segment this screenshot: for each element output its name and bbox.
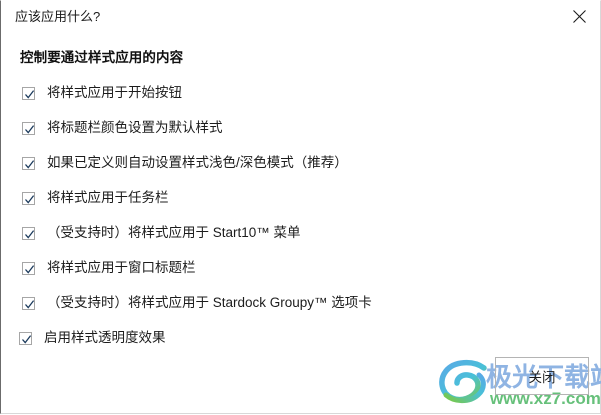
checkbox-icon[interactable] <box>19 332 32 345</box>
dialog-title: 应该应用什么? <box>15 8 100 25</box>
checkbox-icon[interactable] <box>22 227 35 240</box>
close-button[interactable]: 关闭 <box>495 357 589 395</box>
close-x-icon[interactable] <box>563 2 595 30</box>
option-row-transparency[interactable]: 启用样式透明度效果 <box>19 328 166 348</box>
option-label: （受支持时）将样式应用于 Start10™ 菜单 <box>47 224 301 242</box>
option-label: 启用样式透明度效果 <box>44 329 166 347</box>
option-label: 将标题栏颜色设置为默认样式 <box>47 119 223 137</box>
option-row-groupy-tabs[interactable]: （受支持时）将样式应用于 Stardock Groupy™ 选项卡 <box>22 293 372 313</box>
section-heading: 控制要通过样式应用的内容 <box>20 46 183 66</box>
checkbox-icon[interactable] <box>22 297 35 310</box>
option-label: 将样式应用于窗口标题栏 <box>47 259 196 277</box>
option-row-start-button[interactable]: 将样式应用于开始按钮 <box>22 83 182 103</box>
aurora-swirl-logo-icon <box>438 359 492 405</box>
checkbox-icon[interactable] <box>22 157 35 170</box>
option-row-auto-light-dark[interactable]: 如果已定义则自动设置样式浅色/深色模式（推荐） <box>22 153 348 173</box>
checkbox-icon[interactable] <box>22 122 35 135</box>
option-label: 将样式应用于任务栏 <box>47 189 169 207</box>
dialog-window: 应该应用什么? 控制要通过样式应用的内容 将样式应用于开始按钮 <box>0 0 601 414</box>
option-label: （受支持时）将样式应用于 Stardock Groupy™ 选项卡 <box>47 294 372 312</box>
option-row-start10-menu[interactable]: （受支持时）将样式应用于 Start10™ 菜单 <box>22 223 301 243</box>
checkbox-icon[interactable] <box>22 87 35 100</box>
option-label: 如果已定义则自动设置样式浅色/深色模式（推荐） <box>47 154 348 172</box>
option-row-taskbar[interactable]: 将样式应用于任务栏 <box>22 188 169 208</box>
option-row-window-titlebar[interactable]: 将样式应用于窗口标题栏 <box>22 258 196 278</box>
option-row-titlebar-color[interactable]: 将标题栏颜色设置为默认样式 <box>22 118 223 138</box>
option-label: 将样式应用于开始按钮 <box>47 84 182 102</box>
checkbox-icon[interactable] <box>22 192 35 205</box>
title-bar: 应该应用什么? <box>1 1 600 32</box>
checkbox-icon[interactable] <box>22 262 35 275</box>
